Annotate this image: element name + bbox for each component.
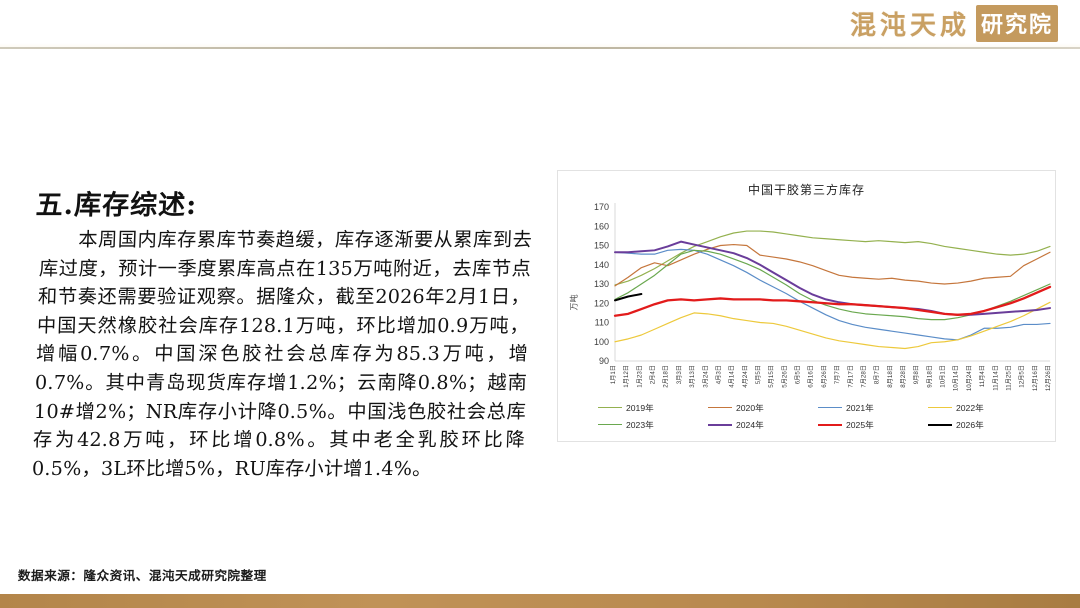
- chart-card: 中国干胶第三方库存 万吨 901001101201301401501601701…: [557, 170, 1056, 442]
- x-axis-tick: 6月16日: [808, 365, 815, 388]
- x-axis-tick: 3月3日: [676, 365, 683, 384]
- x-axis-tick: 10月1日: [940, 365, 947, 388]
- legend-swatch-icon: [708, 424, 732, 426]
- legend-item-2026年[interactable]: 2026年: [928, 419, 1038, 431]
- x-axis-tick: 2月4日: [650, 365, 657, 384]
- legend-item-2023年[interactable]: 2023年: [598, 419, 708, 431]
- x-axis-tick: 2月18日: [663, 365, 670, 388]
- x-axis-tick: 9月8日: [913, 365, 920, 384]
- y-axis-tick: 130: [594, 279, 609, 289]
- legend-swatch-icon: [928, 407, 952, 408]
- x-axis-tick: 8月28日: [900, 365, 907, 388]
- x-axis-tick: 7月28日: [861, 365, 868, 388]
- legend-item-2021年[interactable]: 2021年: [818, 402, 928, 414]
- page-title: 五.库存综述:: [35, 183, 529, 222]
- x-axis-tick: 7月7日: [834, 365, 841, 384]
- x-axis-tick: 8月18日: [887, 365, 894, 388]
- legend-label: 2025年: [846, 419, 874, 431]
- x-axis-tick: 3月13日: [689, 365, 696, 388]
- header-divider: [0, 47, 1080, 49]
- legend-item-2019年[interactable]: 2019年: [598, 402, 708, 414]
- legend-swatch-icon: [928, 424, 952, 426]
- x-axis-tick: 6月26日: [821, 365, 828, 388]
- legend-item-2022年[interactable]: 2022年: [928, 402, 1038, 414]
- footer-bar: [0, 594, 1080, 608]
- legend-label: 2022年: [956, 402, 984, 414]
- source-note: 数据来源：隆众资讯、混沌天成研究院整理: [18, 565, 267, 584]
- x-axis-tick: 1月1日: [610, 365, 617, 384]
- legend-item-2020年[interactable]: 2020年: [708, 402, 818, 414]
- legend-swatch-icon: [598, 424, 622, 425]
- legend-label: 2026年: [956, 419, 984, 431]
- legend-label: 2024年: [736, 419, 764, 431]
- brand-logo-seal: 研究院: [976, 5, 1058, 42]
- legend-label: 2020年: [736, 402, 764, 414]
- x-axis-tick: 7月17日: [847, 365, 854, 388]
- legend-label: 2019年: [626, 402, 654, 414]
- y-axis-tick: 140: [594, 260, 609, 270]
- legend-swatch-icon: [818, 407, 842, 408]
- y-axis-tick: 90: [599, 356, 609, 366]
- section-body-text: 本周国内库存累库节奏趋缓，库存逐渐要从累库到去库过度，预计一季度累库高点在135…: [32, 226, 533, 483]
- y-axis-tick: 170: [594, 202, 609, 212]
- x-axis-tick: 5月15日: [768, 365, 775, 388]
- x-axis-tick: 10月14日: [953, 365, 960, 391]
- legend-swatch-icon: [708, 407, 732, 408]
- legend-swatch-icon: [598, 407, 622, 408]
- x-axis-tick: 5月26日: [781, 365, 788, 388]
- x-axis-tick: 12月16日: [1032, 365, 1039, 391]
- legend-label: 2021年: [846, 402, 874, 414]
- legend-item-2025年[interactable]: 2025年: [818, 419, 928, 431]
- content-column: 五.库存综述: 本周国内库存累库节奏趋缓，库存逐渐要从累库到去库过度，预计一季度…: [36, 183, 528, 483]
- x-axis-tick: 11月14日: [992, 365, 999, 391]
- y-axis-tick: 120: [594, 298, 609, 308]
- x-axis-tick: 1月23日: [636, 365, 643, 388]
- y-axis-tick: 110: [595, 318, 609, 328]
- x-axis-tick: 12月5日: [1019, 365, 1026, 388]
- x-axis-tick: 6月5日: [795, 365, 802, 384]
- x-axis-tick: 1月12日: [623, 365, 630, 388]
- x-axis-tick: 11月25日: [1006, 365, 1013, 391]
- y-axis-tick: 100: [594, 337, 609, 347]
- series-line-2021年: [615, 249, 1050, 339]
- brand-logo-main: 混沌天成: [850, 5, 970, 42]
- brand-logo: 混沌天成 研究院: [850, 4, 1058, 42]
- x-axis-tick: 12月26日: [1045, 365, 1052, 391]
- legend-item-2024年[interactable]: 2024年: [708, 419, 818, 431]
- x-axis-tick: 5月5日: [755, 365, 762, 384]
- slide-page: 混沌天成 研究院 五.库存综述: 本周国内库存累库节奏趋缓，库存逐渐要从累库到去…: [0, 0, 1080, 608]
- legend-swatch-icon: [818, 424, 842, 426]
- x-axis-tick: 3月24日: [702, 365, 709, 388]
- series-line-2019年: [615, 231, 1050, 285]
- y-axis-tick: 160: [594, 221, 609, 231]
- series-line-2022年: [615, 302, 1050, 348]
- x-axis-tick: 10月24日: [966, 365, 973, 391]
- x-axis-tick: 4月14日: [729, 365, 736, 388]
- chart-legend: 2019年2020年2021年2022年2023年2024年2025年2026年: [598, 399, 1038, 433]
- x-axis-tick: 8月7日: [874, 365, 881, 384]
- x-axis-tick: 4月3日: [716, 365, 723, 384]
- x-axis-tick: 9月18日: [926, 365, 933, 388]
- legend-label: 2023年: [626, 419, 654, 431]
- y-axis-tick: 150: [594, 241, 609, 251]
- x-axis-tick: 4月24日: [742, 365, 749, 388]
- x-axis-tick: 11月4日: [979, 365, 986, 387]
- series-line-2020年: [615, 245, 1050, 286]
